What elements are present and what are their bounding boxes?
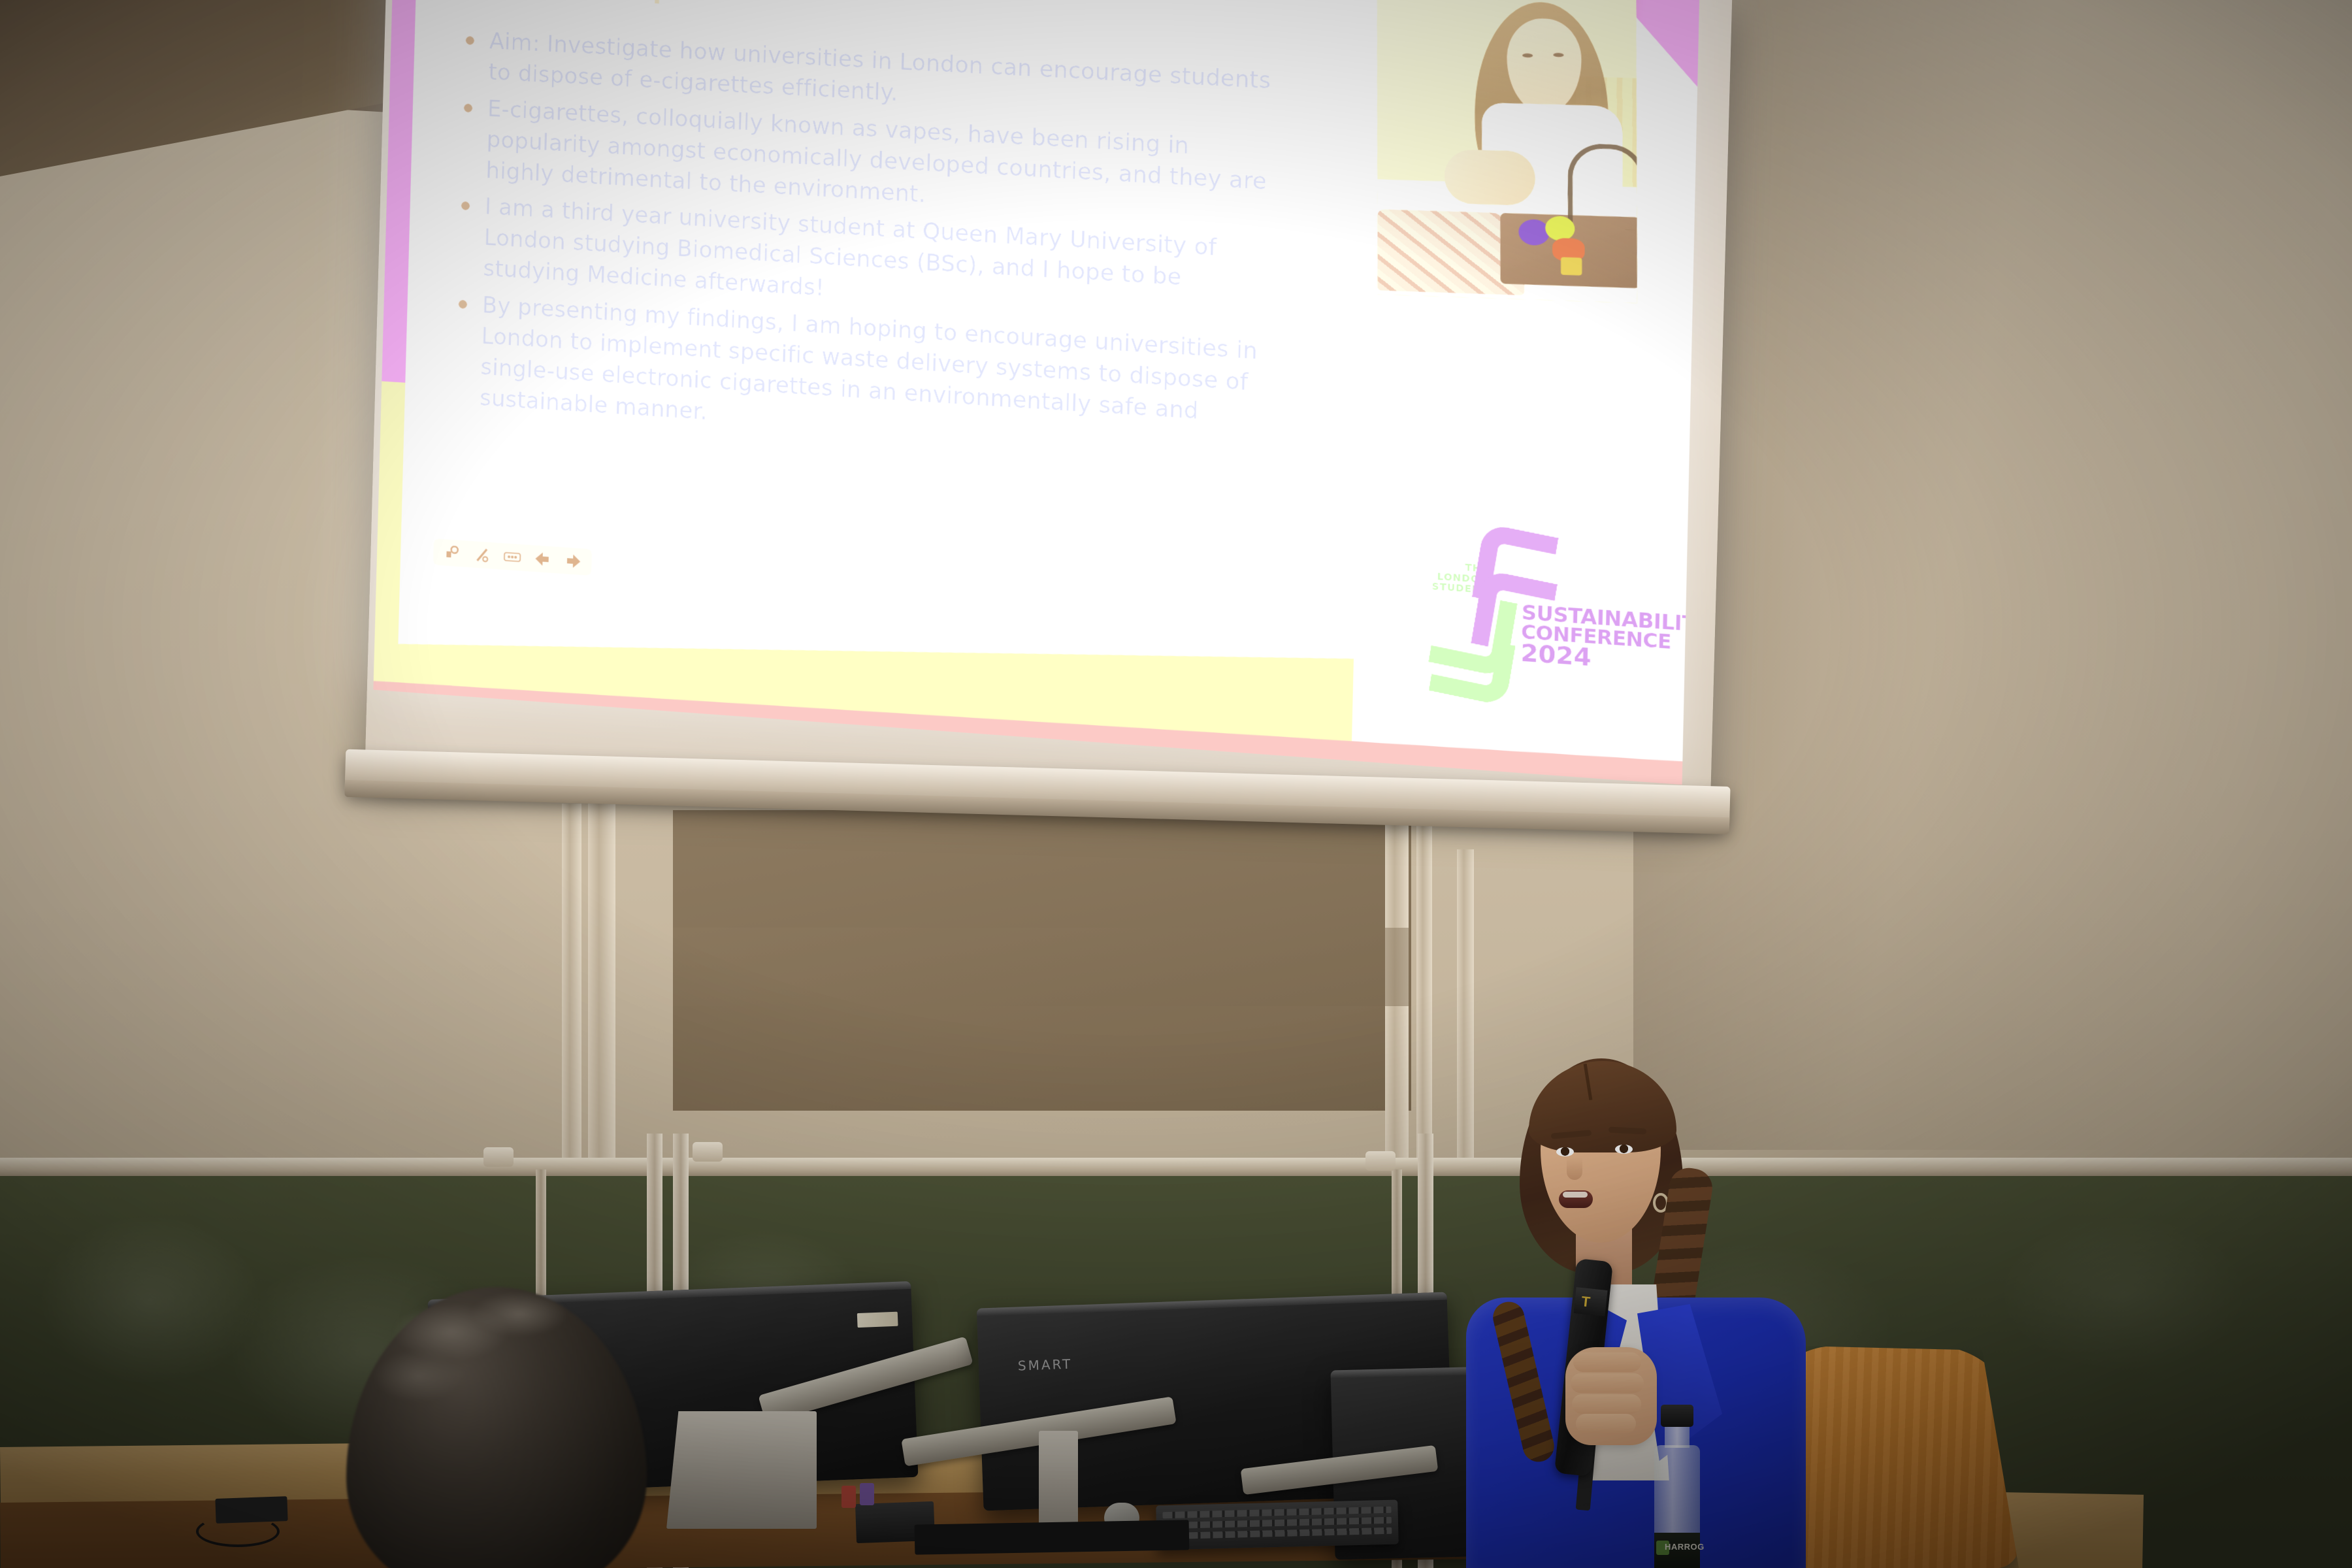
projection-screen: My Purpose: Aim: Investigate how univers…: [363, 0, 1752, 860]
more-options-icon[interactable]: [502, 547, 523, 566]
board-clip-3: [1365, 1151, 1396, 1171]
chalk-rail: [0, 1158, 2352, 1177]
highlighter-icon[interactable]: [472, 546, 492, 564]
slide-title: My Purpose:: [471, 0, 796, 12]
panel-track-1: [562, 804, 581, 1169]
speaker: T: [1457, 1052, 1823, 1568]
pen-icon[interactable]: [442, 544, 462, 562]
board-clip-2: [693, 1142, 723, 1162]
panel-track-2: [588, 804, 615, 1169]
speaker-nose: [1567, 1158, 1582, 1180]
slide-bullet-list: Aim: Investigate how universities in Lon…: [444, 24, 1291, 470]
lecture-theatre-photo: My Purpose: Aim: Investigate how univers…: [0, 0, 2352, 1568]
bottle-label: HARROG: [1654, 1533, 1700, 1568]
photo-handbag: [1500, 213, 1637, 288]
desk-cable-loop: [196, 1516, 280, 1547]
logo-wordmark: SUSTAINABILITY CONFERENCE 2024: [1520, 604, 1700, 678]
desk-marker-red[interactable]: [841, 1486, 856, 1508]
speaker-hair-top: [1529, 1061, 1676, 1152]
conference-logo: THE LONDON STUDENT SUSTAINABILITY CONFER…: [1401, 519, 1637, 678]
desk-marker-purple[interactable]: [860, 1483, 874, 1505]
keyboard[interactable]: [1156, 1499, 1399, 1550]
desk-cable-tray: [915, 1520, 1190, 1554]
bottle-brand-text: HARROG: [1665, 1542, 1705, 1552]
panel-track-4: [1416, 804, 1432, 1169]
previous-slide-icon[interactable]: [532, 550, 553, 568]
speaker-eye-left: [1556, 1147, 1574, 1156]
water-bottle[interactable]: HARROG: [1653, 1405, 1701, 1568]
slide-portrait-photo: [1377, 0, 1637, 303]
wall-recess-2: [673, 928, 1411, 1006]
speaker-eye-right: [1615, 1145, 1633, 1154]
speaker-hand: [1565, 1347, 1657, 1445]
powerpoint-presenter-toolbar[interactable]: [433, 538, 592, 576]
bottle-cap: [1661, 1405, 1693, 1427]
photo-arm: [1444, 149, 1535, 206]
display-brand-label: SMART: [1017, 1356, 1072, 1374]
speaker-mouth: [1559, 1190, 1593, 1208]
monitor-stand-left: [666, 1411, 817, 1529]
next-slide-icon[interactable]: [563, 552, 583, 570]
board-clip-1: [483, 1147, 514, 1167]
powerpoint-slide: My Purpose: Aim: Investigate how univers…: [373, 0, 1700, 785]
